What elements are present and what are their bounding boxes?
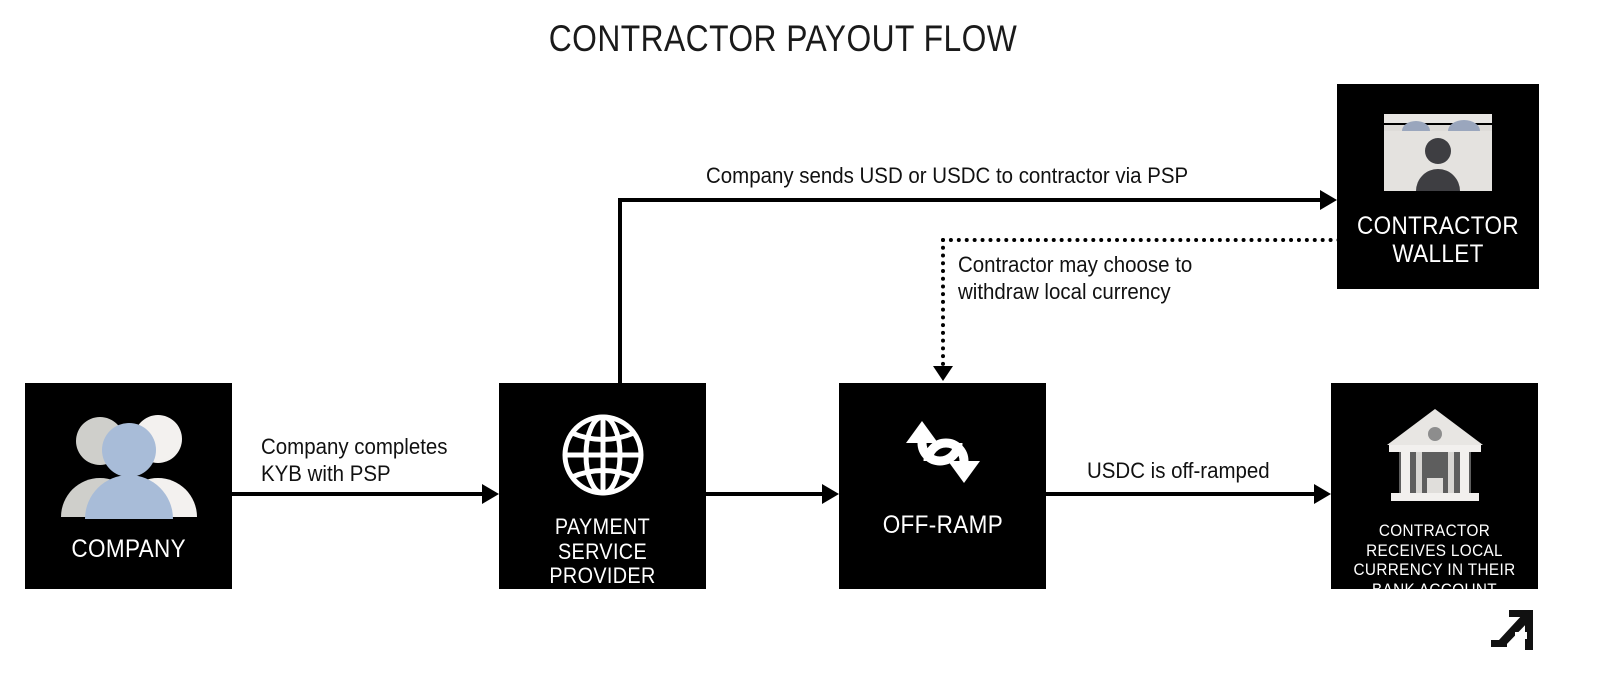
node-payment-service-provider[interactable]: PAYMENT SERVICE PROVIDER xyxy=(499,383,706,589)
edge-psp-to-wallet-horizontal xyxy=(618,198,1321,202)
node-offramp-label: OFF-RAMP xyxy=(882,511,1002,539)
edge-offramp-to-bank-line xyxy=(1046,492,1314,496)
node-contractor-wallet[interactable]: CONTRACTOR WALLET xyxy=(1337,84,1539,289)
exchange-arrows-icon xyxy=(896,421,990,483)
edge-label-company-sends: Company sends USD or USDC to contractor … xyxy=(706,163,1188,190)
node-off-ramp[interactable]: OFF-RAMP xyxy=(839,383,1046,589)
node-contractor-bank-account[interactable]: CONTRACTOR RECEIVES LOCAL CURRENCY IN TH… xyxy=(1331,383,1538,589)
edge-psp-to-offramp-line xyxy=(706,492,822,496)
group-of-people-icon xyxy=(55,407,203,519)
edge-wallet-to-offramp-dotted-vertical xyxy=(941,238,945,366)
node-bank-label: CONTRACTOR RECEIVES LOCAL CURRENCY IN TH… xyxy=(1341,521,1527,589)
edge-psp-to-offramp-arrowhead xyxy=(822,484,839,504)
edge-psp-to-wallet-arrowhead xyxy=(1320,190,1337,210)
edge-wallet-to-offramp-arrowhead xyxy=(933,366,953,381)
diagram-canvas: CONTRACTOR PAYOUT FLOW Company completes… xyxy=(0,0,1600,683)
page-title: CONTRACTOR PAYOUT FLOW xyxy=(110,18,1457,60)
node-psp-label: PAYMENT SERVICE PROVIDER xyxy=(509,515,695,589)
edge-label-contractor-withdraw: Contractor may choose to withdraw local … xyxy=(958,252,1192,306)
bank-building-icon xyxy=(1383,405,1487,505)
edge-company-to-psp-line xyxy=(232,492,482,496)
node-wallet-label: CONTRACTOR WALLET xyxy=(1347,212,1529,268)
edge-company-to-psp-arrowhead xyxy=(482,484,499,504)
edge-label-kyb: Company completes KYB with PSP xyxy=(261,434,448,488)
node-company-label: COMPANY xyxy=(71,535,186,563)
edge-psp-to-wallet-vertical xyxy=(618,200,622,383)
node-company[interactable]: COMPANY xyxy=(25,383,232,589)
edge-label-usdc-offramped: USDC is off-ramped xyxy=(1087,458,1270,485)
edge-wallet-to-offramp-dotted-horizontal xyxy=(941,238,1341,242)
wallet-with-person-icon xyxy=(1382,114,1494,192)
globe-icon xyxy=(561,413,645,497)
edge-offramp-to-bank-arrowhead xyxy=(1314,484,1331,504)
arrow-up-right-logo xyxy=(1489,606,1537,654)
